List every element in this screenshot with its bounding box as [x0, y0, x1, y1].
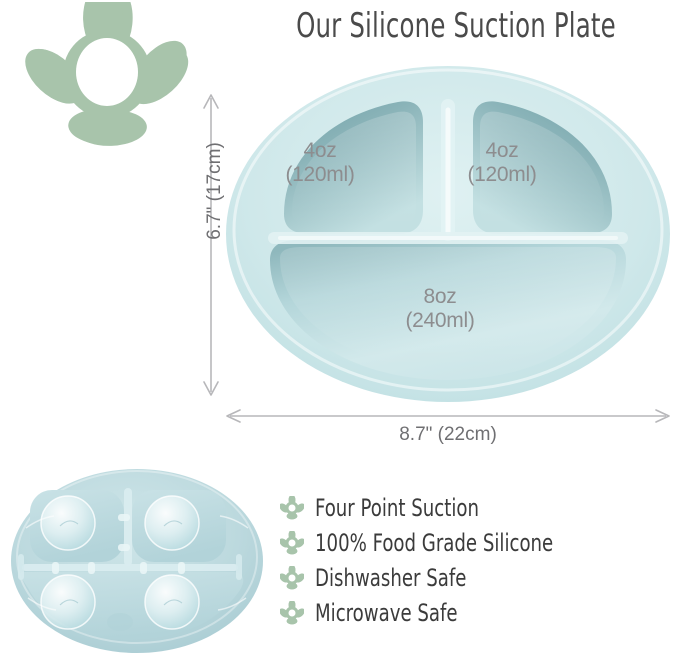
- plate-illustration: [222, 62, 674, 407]
- daisy-flower-bullet-icon: [280, 496, 304, 520]
- feature-label: Microwave Safe: [315, 599, 458, 627]
- feature-label: Four Point Suction: [315, 494, 479, 522]
- page-title: Our Silicone Suction Plate: [280, 6, 632, 46]
- daisy-flower-bullet-icon: [280, 601, 304, 625]
- feature-label: Dishwasher Safe: [315, 564, 466, 592]
- width-dimension-label: 8.7" (22cm): [222, 424, 674, 446]
- daisy-flower-bullet-icon: [280, 531, 304, 555]
- plate-underside-photo: [8, 466, 266, 656]
- product-infographic: Our Silicone Suction Plate: [0, 0, 679, 666]
- list-item: 100% Food Grade Silicone: [280, 527, 670, 559]
- list-item: Four Point Suction: [280, 492, 670, 524]
- list-item: Dishwasher Safe: [280, 562, 670, 594]
- height-dimension-label: 6.7" (17cm): [204, 126, 226, 256]
- feature-label: 100% Food Grade Silicone: [315, 529, 553, 557]
- list-item: Microwave Safe: [280, 597, 670, 629]
- daisy-flower-icon: [22, 2, 192, 152]
- feature-list: Four Point Suction: [280, 492, 670, 632]
- daisy-flower-bullet-icon: [280, 566, 304, 590]
